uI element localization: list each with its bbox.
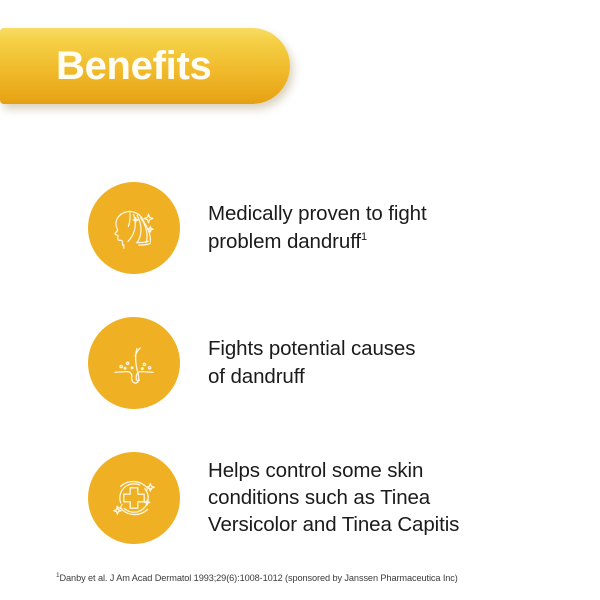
list-item: Medically proven to fight problem dandru… bbox=[0, 160, 600, 295]
benefit-line-1: Fights potential causes bbox=[208, 337, 415, 360]
benefits-list: Medically proven to fight problem dandru… bbox=[0, 160, 600, 565]
hair-follicle-flakes-icon bbox=[102, 331, 166, 395]
medical-cross-orbit-sparkle-icon bbox=[102, 466, 166, 530]
benefit-text: Fights potential causes of dandruff bbox=[208, 335, 415, 390]
benefits-banner: Benefits bbox=[0, 28, 290, 104]
list-item: Fights potential causes of dandruff bbox=[0, 295, 600, 430]
head-with-hair-sparkle-icon bbox=[102, 196, 166, 260]
benefit-icon-badge bbox=[88, 452, 180, 544]
page-title: Benefits bbox=[56, 46, 211, 86]
benefit-text: Medically proven to fight problem dandru… bbox=[208, 200, 427, 255]
benefit-icon-badge bbox=[88, 317, 180, 409]
benefit-line-2: problem dandruff bbox=[208, 230, 361, 253]
benefit-line-3: Versicolor and Tinea Capitis bbox=[208, 513, 459, 536]
footnote-text: Danby et al. J Am Acad Dermatol 1993;29(… bbox=[60, 573, 458, 583]
benefits-infographic: Benefits bbox=[0, 0, 600, 600]
benefit-text: Helps control some skin conditions such … bbox=[208, 457, 459, 539]
benefit-line-2: conditions such as Tinea bbox=[208, 486, 430, 509]
footnote: 1Danby et al. J Am Acad Dermatol 1993;29… bbox=[56, 573, 556, 584]
footnote-marker: 1 bbox=[361, 231, 367, 243]
benefit-line-1: Helps control some skin bbox=[208, 459, 423, 482]
benefit-line-1: Medically proven to fight bbox=[208, 202, 427, 225]
benefit-line-2: of dandruff bbox=[208, 365, 305, 388]
benefit-icon-badge bbox=[88, 182, 180, 274]
list-item: Helps control some skin conditions such … bbox=[0, 430, 600, 565]
